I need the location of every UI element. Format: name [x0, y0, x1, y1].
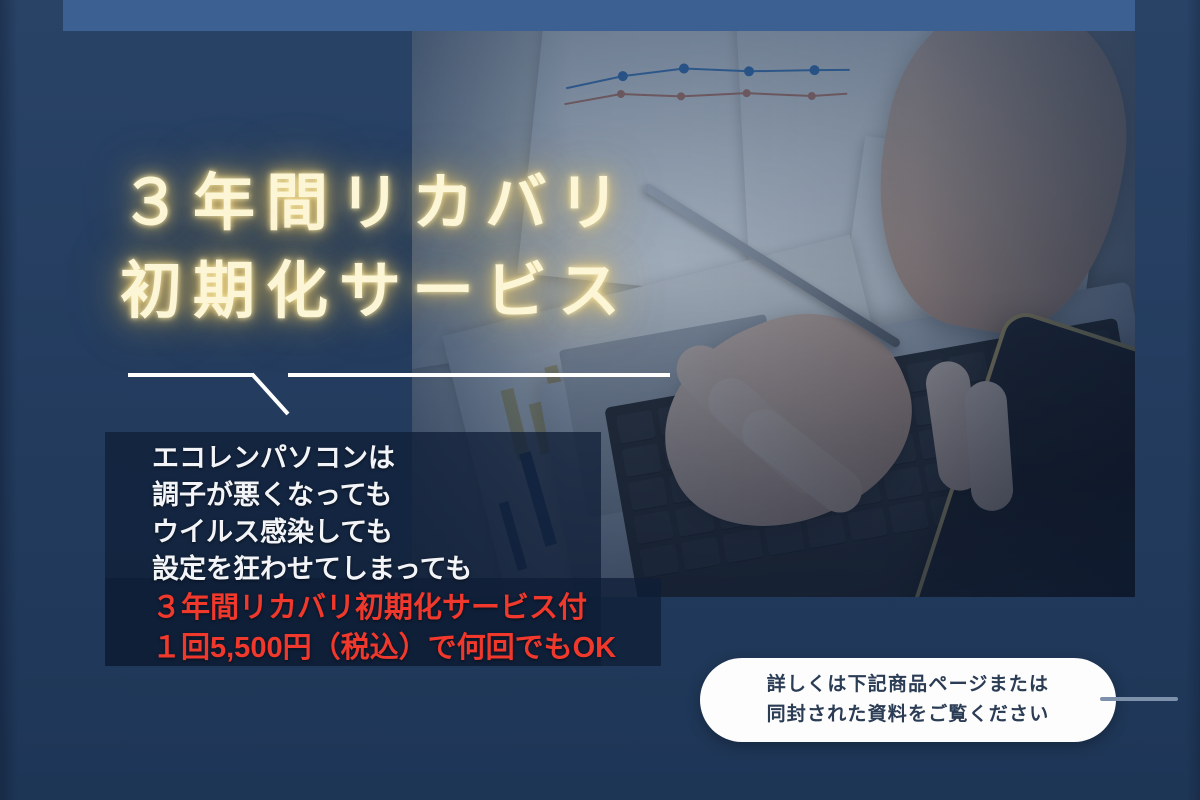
callout-line-1: 詳しくは下記商品ページまたは	[767, 670, 1049, 700]
detail-highlight-line-1: ３年間リカバリ初期化サービス付	[152, 588, 616, 628]
callout-line-2: 同封された資料をご覧ください	[767, 700, 1050, 730]
detail-line-2: 調子が悪くなっても	[152, 477, 616, 514]
detail-line-1: エコレンパソコンは	[152, 440, 616, 477]
detail-line-3: ウイルス感染しても	[152, 514, 616, 551]
page-title: ３年間リカバリ 初期化サービス	[120, 160, 940, 336]
headline-line-2: 初期化サービス	[120, 248, 940, 336]
headline-line-1: ３年間リカバリ	[120, 160, 940, 248]
detail-line-4: 設定を狂わせてしまっても	[152, 551, 616, 588]
promo-banner: ３年間リカバリ 初期化サービス エコレンパソコンは 調子が悪くなっても ウイルス…	[0, 0, 1200, 800]
top-accent-band	[63, 0, 1135, 31]
callout-tail-line	[1100, 697, 1178, 701]
detail-text-block: エコレンパソコンは 調子が悪くなっても ウイルス感染しても 設定を狂わせてしまっ…	[152, 440, 616, 668]
info-callout-pill[interactable]: 詳しくは下記商品ページまたは 同封された資料をご覧ください	[700, 658, 1116, 742]
detail-highlight-line-2: １回5,500円（税込）で何回でもOK	[152, 628, 616, 668]
